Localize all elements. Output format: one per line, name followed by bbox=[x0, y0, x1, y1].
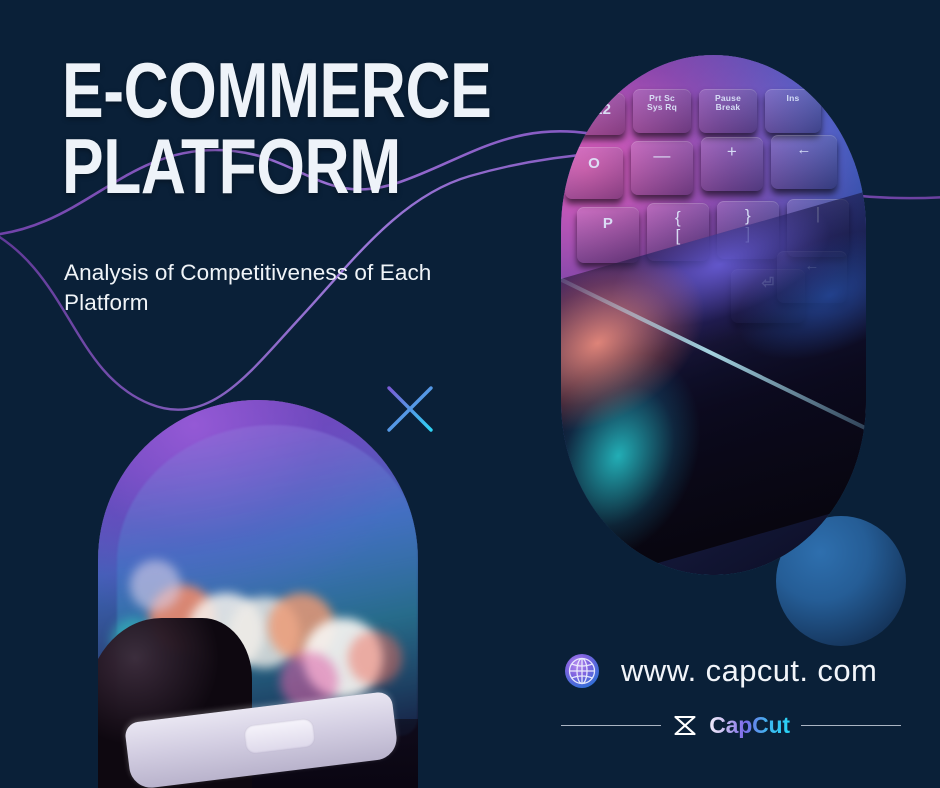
keyboard-key: Prt Sc Sys Rq bbox=[633, 89, 691, 133]
capcut-logo-icon bbox=[672, 714, 698, 737]
keyboard-key: + bbox=[701, 137, 763, 191]
keyboard-key: — bbox=[631, 141, 693, 195]
keyboard-image: F12Prt Sc Sys RqPause BreakInsO—+←P{ [} … bbox=[561, 55, 866, 575]
website-url[interactable]: www. capcut. com bbox=[621, 653, 877, 689]
sparkle-icon bbox=[374, 373, 446, 445]
page-title: E-COMMERCE PLATFORM bbox=[62, 52, 599, 205]
phone-image-frame bbox=[98, 400, 418, 788]
keyboard-key: ← bbox=[771, 135, 837, 189]
website-row[interactable]: www. capcut. com bbox=[561, 650, 877, 692]
phone-image bbox=[98, 400, 418, 788]
keyboard-key: Pause Break bbox=[699, 89, 757, 133]
bokeh-light bbox=[348, 631, 402, 685]
page-subtitle: Analysis of Competitiveness of Each Plat… bbox=[64, 258, 464, 318]
title-line-2: PLATFORM bbox=[62, 128, 491, 204]
brand-row: CapCut bbox=[561, 712, 901, 739]
keyboard-key: P bbox=[577, 207, 639, 263]
divider-left bbox=[561, 725, 661, 727]
title-line-1: E-COMMERCE bbox=[62, 52, 491, 128]
globe-icon bbox=[561, 650, 603, 692]
bokeh-light bbox=[130, 560, 181, 611]
brand-name: CapCut bbox=[709, 712, 790, 739]
poster-canvas: E-COMMERCE PLATFORM Analysis of Competit… bbox=[0, 0, 940, 788]
divider-right bbox=[801, 725, 901, 727]
keyboard-key: Ins bbox=[765, 89, 821, 133]
phone-home-button bbox=[243, 718, 316, 755]
keyboard-image-frame: F12Prt Sc Sys RqPause BreakInsO—+←P{ [} … bbox=[561, 55, 866, 575]
